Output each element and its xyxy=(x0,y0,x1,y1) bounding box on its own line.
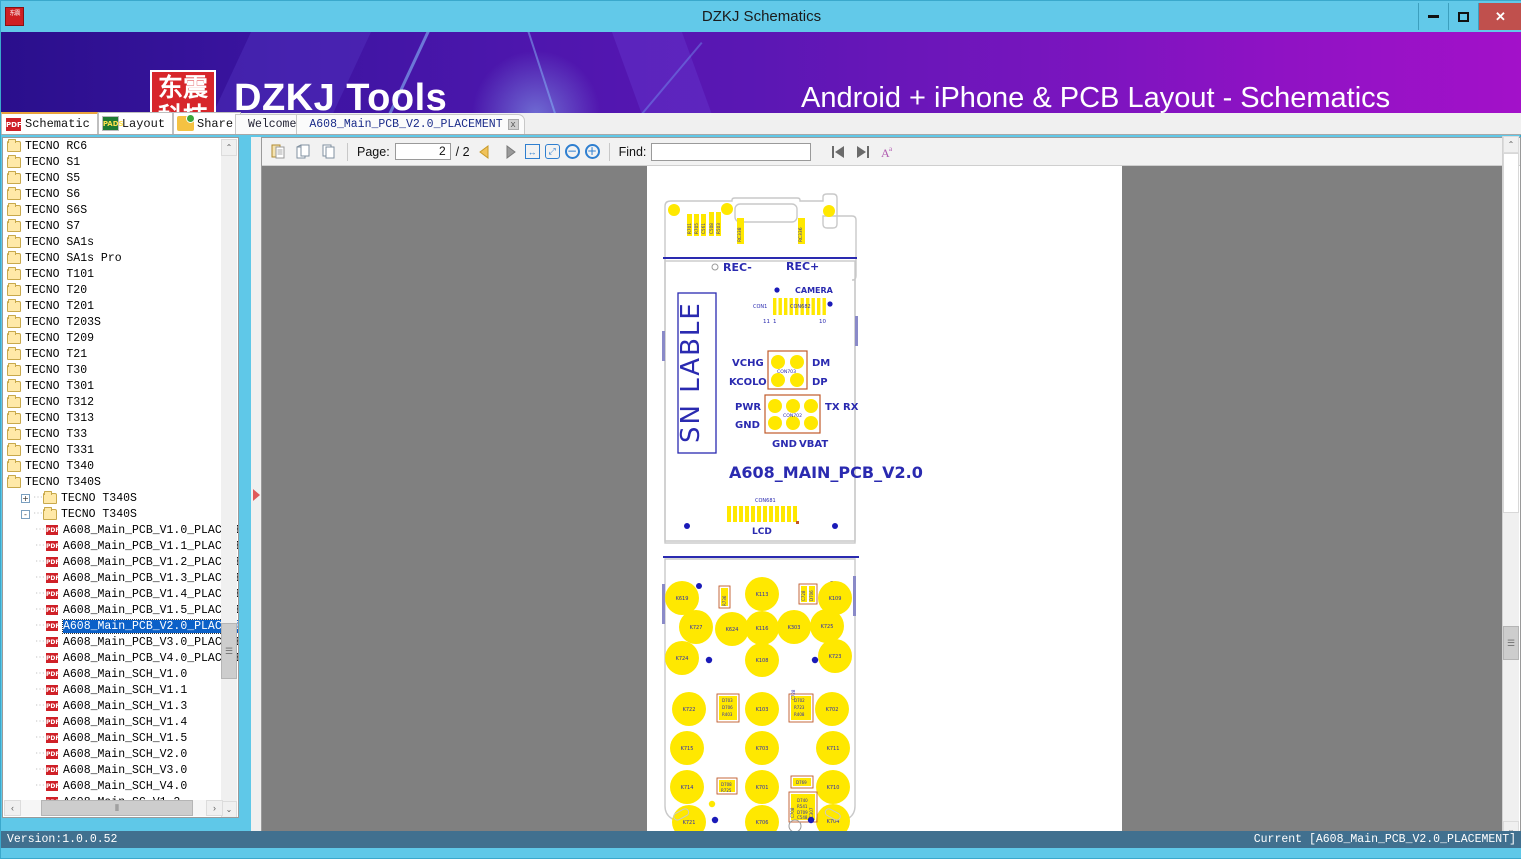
tree-connector: ⋯ xyxy=(35,604,45,616)
tree-item-label: A608_Main_SCH_V2.0 xyxy=(63,748,187,761)
tree-file-item[interactable]: ⋯PDFA608_Main_PCB_V3.0_PLACEMENT xyxy=(3,634,235,650)
zoom-in-icon[interactable]: + xyxy=(585,144,600,159)
svg-text:K701: K701 xyxy=(756,785,769,791)
tree-item-label: TECNO S6 xyxy=(25,188,80,201)
tab-share-label: Share xyxy=(197,117,233,131)
tree-file-item[interactable]: ⋯PDFA608_Main_SCH_V1.1 xyxy=(3,682,235,698)
pdf-file-icon: PDF xyxy=(45,636,59,648)
pdf-file-icon: PDF xyxy=(45,700,59,712)
tab-strip: PDF Schematic PADS Layout Share Welcome … xyxy=(1,113,1521,135)
tree-connector: ⋯ xyxy=(35,524,45,536)
tree-file-item[interactable]: ⋯PDFA608_Main_PCB_V2.0_PLACEMENT xyxy=(3,618,235,634)
find-label: Find: xyxy=(619,145,647,159)
pcb-camera-label: CAMERA xyxy=(795,286,834,295)
tree-file-item[interactable]: ⋯PDFA608_Main_SCH_V2.0 xyxy=(3,746,235,762)
svg-text:K702: K702 xyxy=(826,707,839,713)
tree-item-label: TECNO S7 xyxy=(25,220,80,233)
find-input[interactable] xyxy=(651,143,811,161)
folder-icon xyxy=(7,285,21,296)
tree-item-label: TECNO S5 xyxy=(25,172,80,185)
pcb-title: A608_MAIN_PCB_V2.0 xyxy=(729,463,923,482)
sidebar-horizontal-scrollbar[interactable]: ‹ ⦀ › xyxy=(4,800,223,816)
pcb-rec-minus-label: REC- xyxy=(723,261,752,274)
tree-file-item[interactable]: ⋯PDFA608_Main_PCB_V1.3_PLACEMENT xyxy=(3,570,235,586)
svg-text:CON703: CON703 xyxy=(777,369,796,375)
svg-text:R408: R408 xyxy=(794,712,805,717)
pdf-file-icon: PDF xyxy=(45,716,59,728)
tree-file-item[interactable]: ⋯PDFA608_Main_PCB_V1.0_PLACEMENT xyxy=(3,522,235,538)
tree-item-label: TECNO T201 xyxy=(25,300,94,313)
sidebar-scroll-thumb[interactable]: ☰ xyxy=(221,623,237,679)
tab-schematic-label: Schematic xyxy=(25,117,90,131)
tree-item-label: A608_Main_SCH_V1.3 xyxy=(63,700,187,713)
tree-connector: ⋯ xyxy=(35,668,45,680)
tree-folder-item[interactable]: TECNO S6 xyxy=(3,186,235,202)
tree-item-label: A608_Main_PCB_V1.0_PLACEMENT xyxy=(63,524,239,537)
tree-folder-item[interactable]: TECNO T340S xyxy=(3,474,235,490)
folder-icon xyxy=(7,141,21,152)
tree-folder-item[interactable]: TECNO SA1s xyxy=(3,234,235,250)
tree-folder-item[interactable]: TECNO S7 xyxy=(3,218,235,234)
pdf-file-icon: PDF xyxy=(45,732,59,744)
pcb-label-kcolo: KCOLO xyxy=(729,377,767,388)
app-banner: 东震 科技 DZKJ Tools Android + iPhone & PCB … xyxy=(1,32,1521,113)
svg-text:1: 1 xyxy=(773,319,777,325)
tree-folder-item[interactable]: TECNO S5 xyxy=(3,170,235,186)
page-fit-icon[interactable] xyxy=(268,142,288,162)
scroll-up-icon[interactable]: ⌃ xyxy=(221,139,237,156)
tree-connector: ⋯ xyxy=(35,716,45,728)
splitter-collapse-icon[interactable] xyxy=(253,489,260,501)
tree-connector: ⋯ xyxy=(35,748,45,760)
tree-item-label: TECNO T301 xyxy=(25,380,94,393)
tree-item-label: A608_Main_PCB_V1.3_PLACEMENT xyxy=(63,572,239,585)
svg-text:K724: K724 xyxy=(676,656,689,662)
tree-item-label: A608_Main_SCH_V1.0 xyxy=(63,668,187,681)
tree-item-label: A608_Main_SCH_V1.5 xyxy=(63,732,187,745)
main-scroll-grip[interactable]: ☰ xyxy=(1503,626,1519,660)
folder-icon xyxy=(7,477,21,488)
svg-text:K116: K116 xyxy=(756,626,769,632)
tree-item-label: A608_Main_SCH_V4.0 xyxy=(63,780,187,793)
svg-text:K714: K714 xyxy=(681,785,694,791)
svg-text:R541: R541 xyxy=(797,804,808,809)
folder-icon xyxy=(7,333,21,344)
window-controls: ✕ xyxy=(1418,3,1521,30)
tree-item-label: A608_Main_SCH_V3.0 xyxy=(63,764,187,777)
pcb-label-pwr: PWR xyxy=(735,402,761,413)
tree-folder-item[interactable]: TECNO T201 xyxy=(3,298,235,314)
svg-text:K710: K710 xyxy=(827,785,840,791)
tree-item-label: A608_Main_PCB_V1.2_PLACEMENT xyxy=(63,556,239,569)
tree-item-label: A608_Main_PCB_V2.0_PLACEMENT xyxy=(63,620,239,633)
pdf-file-icon: PDF xyxy=(45,524,59,536)
svg-text:R701: R701 xyxy=(687,223,692,234)
file-tree: TECNO RC6TECNO S1TECNO S5TECNO S6TECNO S… xyxy=(3,138,235,810)
logo-line-1: 东震 xyxy=(152,73,214,102)
pdf-file-icon: PDF xyxy=(45,556,59,568)
tree-folder-item[interactable]: TECNO T101 xyxy=(3,266,235,282)
svg-text:D706: D706 xyxy=(809,590,814,601)
svg-text:11: 11 xyxy=(763,319,770,325)
folder-icon xyxy=(7,237,21,248)
tree-connector: ⋯ xyxy=(35,540,45,552)
svg-text:C508: C508 xyxy=(709,223,714,234)
tree-connector: ⋯ xyxy=(35,764,45,776)
svg-text:K715: K715 xyxy=(681,746,694,752)
svg-text:CON681: CON681 xyxy=(755,498,776,504)
main-scroll-up-icon[interactable]: ⌃ xyxy=(1503,136,1519,153)
pdf-file-icon: PDF xyxy=(45,748,59,760)
tab-layout[interactable]: PADS Layout xyxy=(98,112,173,134)
tree-folder-item[interactable]: -⋯TECNO T340S xyxy=(3,506,235,522)
tree-folder-item[interactable]: TECNO T312 xyxy=(3,394,235,410)
svg-text:CON682: CON682 xyxy=(790,304,811,310)
folder-icon xyxy=(7,429,21,440)
tree-connector: ⋯ xyxy=(35,588,45,600)
svg-text:K113: K113 xyxy=(756,592,769,598)
svg-text:K725: K725 xyxy=(821,624,834,630)
close-icon[interactable]: x xyxy=(508,119,519,130)
svg-text:R723: R723 xyxy=(794,705,805,710)
dzkj-logo-icon: 东震 科技 xyxy=(150,70,216,113)
folder-icon xyxy=(7,157,21,168)
pcb-label-dp: DP xyxy=(812,377,828,388)
doc-tab-placement-label: A608_Main_PCB_V2.0_PLACEMENT xyxy=(309,118,502,131)
tree-item-label: TECNO T312 xyxy=(25,396,94,409)
brand-title: DZKJ Tools xyxy=(234,77,447,113)
font-search-icon[interactable]: Aa xyxy=(878,142,898,162)
tree-folder-item[interactable]: TECNO T33 xyxy=(3,426,235,442)
tree-item-label: TECNO T30 xyxy=(25,364,87,377)
svg-text:K109: K109 xyxy=(829,596,842,602)
svg-text:K303: K303 xyxy=(788,625,801,631)
svg-text:CON702: CON702 xyxy=(783,413,802,419)
prev-page-icon[interactable] xyxy=(475,142,495,162)
tree-item-label: TECNO T340S xyxy=(61,492,137,505)
file-tree-sidebar: TECNO RC6TECNO S1TECNO S5TECNO S6TECNO S… xyxy=(2,137,239,818)
tree-file-item[interactable]: ⋯PDFA608_Main_PCB_V4.0_PLACEMENT xyxy=(3,650,235,666)
svg-text:C561: C561 xyxy=(701,223,706,234)
hscroll-track[interactable]: ⦀ xyxy=(21,800,206,816)
svg-text:D740: D740 xyxy=(797,798,808,803)
banner-shape-2 xyxy=(601,32,733,113)
find-first-icon[interactable] xyxy=(828,142,848,162)
tree-item-label: TECNO T21 xyxy=(25,348,87,361)
tree-item-label: TECNO S1 xyxy=(25,156,80,169)
pdf-file-icon: PDF xyxy=(45,764,59,776)
tree-file-item[interactable]: ⋯PDFA608_Main_PCB_V1.1_PLACEMENT xyxy=(3,538,235,554)
tree-folder-item[interactable]: TECNO T209 xyxy=(3,330,235,346)
tree-connector: ⋯ xyxy=(35,700,45,712)
svg-text:C728: C728 xyxy=(791,689,796,700)
tree-item-label: TECNO SA1s Pro xyxy=(25,252,122,265)
tree-item-label: TECNO T209 xyxy=(25,332,94,345)
svg-text:K721: K721 xyxy=(683,820,696,826)
scroll-right-icon[interactable]: › xyxy=(206,800,223,816)
pcb-rec-plus-label: REC+ xyxy=(786,260,819,273)
tree-folder-item[interactable]: TECNO T30 xyxy=(3,362,235,378)
folder-icon xyxy=(7,413,21,424)
svg-text:a: a xyxy=(889,145,893,153)
folder-icon xyxy=(7,445,21,456)
tree-folder-item[interactable]: TECNO S6S xyxy=(3,202,235,218)
svg-text:K703: K703 xyxy=(756,746,769,752)
status-bar: Version:1.0.0.52 Current [A608_Main_PCB_… xyxy=(1,831,1521,848)
svg-text:K706: K706 xyxy=(756,820,769,826)
pdf-file-icon: PDF xyxy=(45,620,59,632)
svg-text:RC338: RC338 xyxy=(737,227,743,242)
tree-item-label: TECNO T340S xyxy=(61,508,137,521)
tree-file-item[interactable]: ⋯PDFA608_Main_SCH_V1.5 xyxy=(3,730,235,746)
svg-text:K722: K722 xyxy=(683,707,696,713)
folder-icon xyxy=(43,509,57,520)
two-page-icon[interactable] xyxy=(293,142,313,162)
svg-text:R705: R705 xyxy=(694,223,699,234)
facing-page-icon[interactable] xyxy=(318,142,338,162)
folder-icon xyxy=(7,221,21,232)
tree-folder-item[interactable]: TECNO T21 xyxy=(3,346,235,362)
status-current-file: Current [A608_Main_PCB_V2.0_PLACEMENT] xyxy=(1254,833,1516,846)
minimize-button[interactable] xyxy=(1418,3,1448,30)
svg-text:C548: C548 xyxy=(797,815,808,820)
tree-folder-item[interactable]: TECNO T301 xyxy=(3,378,235,394)
tree-connector: ⋯ xyxy=(35,780,45,792)
svg-text:R403: R403 xyxy=(722,712,733,717)
status-version: Version:1.0.0.52 xyxy=(7,833,117,846)
svg-text:K619: K619 xyxy=(676,596,689,602)
svg-text:10: 10 xyxy=(819,319,826,325)
pcb-label-vchg: VCHG xyxy=(732,358,764,369)
doc-tab-welcome[interactable]: Welcome xyxy=(235,114,302,134)
pdf-file-icon: PDF xyxy=(45,604,59,616)
tree-item-label: TECNO T340 xyxy=(25,460,94,473)
tree-folder-item[interactable]: TECNO T203S xyxy=(3,314,235,330)
tree-item-label: TECNO T20 xyxy=(25,284,87,297)
tree-connector: ⋯ xyxy=(35,652,45,664)
pdf-file-icon: PDF xyxy=(45,652,59,664)
pcb-label-tx: TX xyxy=(825,402,840,413)
svg-text:CON1: CON1 xyxy=(753,304,767,310)
tree-file-item[interactable]: ⋯PDFA608_Main_SCH_V3.0 xyxy=(3,762,235,778)
pcb-lcd-label: LCD xyxy=(752,527,772,537)
next-page-icon[interactable] xyxy=(500,142,520,162)
svg-text:D708: D708 xyxy=(721,782,732,787)
pcb-label-gnd: GND xyxy=(735,420,760,431)
tree-item-label: TECNO RC6 xyxy=(25,140,87,153)
application-window: 东震 DZKJ Schematics ✕ 东震 科技 DZKJ Tools An… xyxy=(0,0,1521,859)
tree-file-item[interactable]: ⋯PDFA608_Main_SCH_V1.4 xyxy=(3,714,235,730)
pdf-file-icon: PDF xyxy=(45,572,59,584)
svg-text:K108: K108 xyxy=(756,658,769,664)
tab-schematic[interactable]: PDF Schematic xyxy=(1,112,98,134)
folder-icon xyxy=(7,253,21,264)
tree-item-label: TECNO S6S xyxy=(25,204,87,217)
share-folder-icon xyxy=(177,116,194,131)
tree-folder-item[interactable]: TECNO T340 xyxy=(3,458,235,474)
page-number-input[interactable]: 2 xyxy=(395,143,451,160)
svg-text:K711: K711 xyxy=(827,746,840,752)
folder-icon xyxy=(7,317,21,328)
folder-icon xyxy=(7,189,21,200)
main-vertical-scrollbar[interactable]: ⌃ ☰ ⌄ xyxy=(1502,136,1519,838)
tab-layout-label: Layout xyxy=(122,117,165,131)
svg-text:R725: R725 xyxy=(721,788,732,793)
tree-folder-item[interactable]: +⋯TECNO T340S xyxy=(3,490,235,506)
pdf-file-icon: PDF xyxy=(45,684,59,696)
tree-item-label: A608_Main_SCH_V1.1 xyxy=(63,684,187,697)
tree-item-label: TECNO T331 xyxy=(25,444,94,457)
tree-file-item[interactable]: ⋯PDFA608_Main_SCH_V4.0 xyxy=(3,778,235,794)
pdf-file-icon: PDF xyxy=(45,780,59,792)
svg-text:SN LABLE: SN LABLE xyxy=(676,301,706,443)
toolbar-divider-1 xyxy=(347,143,348,161)
folder-icon xyxy=(7,397,21,408)
tree-item-label: A608_Main_PCB_V1.5_PLACEMENT xyxy=(63,604,239,617)
banner-tagline: Android + iPhone & PCB Layout - Schemati… xyxy=(801,82,1390,113)
tree-file-item[interactable]: ⋯PDFA608_Main_PCB_V1.4_PLACEMENT xyxy=(3,586,235,602)
tree-item-label: TECNO T101 xyxy=(25,268,94,281)
tree-folder-item[interactable]: TECNO S1 xyxy=(3,154,235,170)
tab-share[interactable]: Share xyxy=(173,112,241,134)
tree-connector: ⋯ xyxy=(35,684,45,696)
pdf-page: R701 R705 C561 C508 R503 RC338 RC336 REC… xyxy=(647,166,1122,836)
pane-splitter[interactable] xyxy=(251,137,261,837)
main-scroll-thumb[interactable] xyxy=(1503,153,1519,513)
scroll-down-icon[interactable]: ⌄ xyxy=(221,801,237,818)
folder-icon xyxy=(7,173,21,184)
tree-item-label: TECNO T203S xyxy=(25,316,101,329)
tree-item-label: TECNO T313 xyxy=(25,412,94,425)
folder-icon xyxy=(7,365,21,376)
svg-text:D706: D706 xyxy=(722,705,733,710)
tree-folder-item[interactable]: TECNO T331 xyxy=(3,442,235,458)
folder-icon xyxy=(7,301,21,312)
svg-text:RC336: RC336 xyxy=(798,227,804,242)
window-footer-strip xyxy=(1,848,1521,858)
folder-icon xyxy=(7,269,21,280)
tree-file-item[interactable]: ⋯PDFA608_Main_PCB_V1.2_PLACEMENT xyxy=(3,554,235,570)
pads-icon: PADS xyxy=(102,116,119,131)
tree-item-label: TECNO SA1s xyxy=(25,236,94,249)
fit-width-icon[interactable]: ↔ xyxy=(525,144,540,159)
collapse-icon[interactable]: - xyxy=(21,510,30,519)
tree-item-label: A608_Main_PCB_V3.0_PLACEMENT xyxy=(63,636,239,649)
folder-icon xyxy=(43,493,57,504)
svg-text:K103: K103 xyxy=(756,707,769,713)
tree-item-label: TECNO T340S xyxy=(25,476,101,489)
tree-connector: ⋯ xyxy=(35,732,45,744)
doc-tab-placement[interactable]: A608_Main_PCB_V2.0_PLACEMENT x xyxy=(296,114,524,134)
expand-icon[interactable]: + xyxy=(21,494,30,503)
tree-item-label: A608_Main_SCH_V1.4 xyxy=(63,716,187,729)
window-title: DZKJ Schematics xyxy=(1,8,1521,25)
svg-text:R503: R503 xyxy=(716,223,721,234)
svg-text:K727: K727 xyxy=(690,625,703,631)
svg-text:C728: C728 xyxy=(801,590,806,601)
tree-item-label: A608_Main_PCB_V1.1_PLACEMENT xyxy=(63,540,239,553)
folder-icon xyxy=(7,381,21,392)
svg-text:K624: K624 xyxy=(726,627,739,633)
close-button[interactable]: ✕ xyxy=(1478,3,1521,30)
tree-file-item[interactable]: ⋯PDFA608_Main_PCB_V1.5_PLACEMENT xyxy=(3,602,235,618)
pcb-label-rx: RX xyxy=(843,402,859,413)
pdf-file-icon: PDF xyxy=(45,540,59,552)
tree-connector: ⋯ xyxy=(35,556,45,568)
tree-connector: ⋯ xyxy=(33,508,43,520)
svg-text:R736: R736 xyxy=(722,595,727,606)
title-bar: 东震 DZKJ Schematics ✕ xyxy=(1,1,1521,32)
hscroll-thumb[interactable]: ⦀ xyxy=(41,800,193,816)
tree-connector: ⋯ xyxy=(35,620,45,632)
folder-icon xyxy=(7,205,21,216)
toolbar-divider-2 xyxy=(609,143,610,161)
pdf-canvas[interactable]: R701 R705 C561 C508 R503 RC338 RC336 REC… xyxy=(262,166,1504,836)
tree-folder-item[interactable]: TECNO SA1s Pro xyxy=(3,250,235,266)
zoom-out-icon[interactable]: − xyxy=(565,144,580,159)
tree-file-item[interactable]: ⋯PDFA608_Main_SCH_V1.0 xyxy=(3,666,235,682)
maximize-button[interactable] xyxy=(1448,3,1478,30)
tree-item-label: A608_Main_PCB_V1.4_PLACEMENT xyxy=(63,588,239,601)
svg-text:D703: D703 xyxy=(722,698,733,703)
find-next-icon[interactable] xyxy=(853,142,873,162)
pcb-placement-drawing: R701 R705 C561 C508 R503 RC338 RC336 REC… xyxy=(647,166,1122,836)
tree-item-label: A608_Main_PCB_V4.0_PLACEMENT xyxy=(63,652,239,665)
tree-file-item[interactable]: ⋯PDFA608_Main_SCH_V1.3 xyxy=(3,698,235,714)
svg-text:K723: K723 xyxy=(829,654,842,660)
svg-text:D769: D769 xyxy=(796,780,807,785)
svg-text:C708: C708 xyxy=(790,807,795,818)
tree-folder-item[interactable]: TECNO T313 xyxy=(3,410,235,426)
tree-connector: ⋯ xyxy=(33,492,43,504)
folder-icon xyxy=(7,349,21,360)
doc-tab-welcome-label: Welcome xyxy=(248,118,296,131)
pdf-icon: PDF xyxy=(5,117,22,132)
pdf-viewer-pane: Page: 2 / 2 ↔ ⤢ − + Find: Aa xyxy=(261,137,1521,837)
pdf-toolbar: Page: 2 / 2 ↔ ⤢ − + Find: Aa xyxy=(262,138,1520,166)
tree-connector: ⋯ xyxy=(35,572,45,584)
pdf-file-icon: PDF xyxy=(45,668,59,680)
page-total-label: / 2 xyxy=(456,145,470,159)
pcb-label-dm: DM xyxy=(812,358,830,369)
tree-folder-item[interactable]: TECNO RC6 xyxy=(3,138,235,154)
pcb-label-gnd2: GND xyxy=(772,439,797,450)
page-label: Page: xyxy=(357,145,390,159)
tree-connector: ⋯ xyxy=(35,636,45,648)
pdf-file-icon: PDF xyxy=(45,588,59,600)
tree-item-label: TECNO T33 xyxy=(25,428,87,441)
fit-page-icon[interactable]: ⤢ xyxy=(545,144,560,159)
sidebar-vertical-scrollbar[interactable]: ⌃ ☰ ⌄ xyxy=(221,139,237,818)
tree-folder-item[interactable]: TECNO T20 xyxy=(3,282,235,298)
folder-icon xyxy=(7,461,21,472)
scroll-left-icon[interactable]: ‹ xyxy=(4,800,21,816)
pcb-label-vbat: VBAT xyxy=(799,439,828,450)
svg-text:C307: C307 xyxy=(809,807,814,818)
